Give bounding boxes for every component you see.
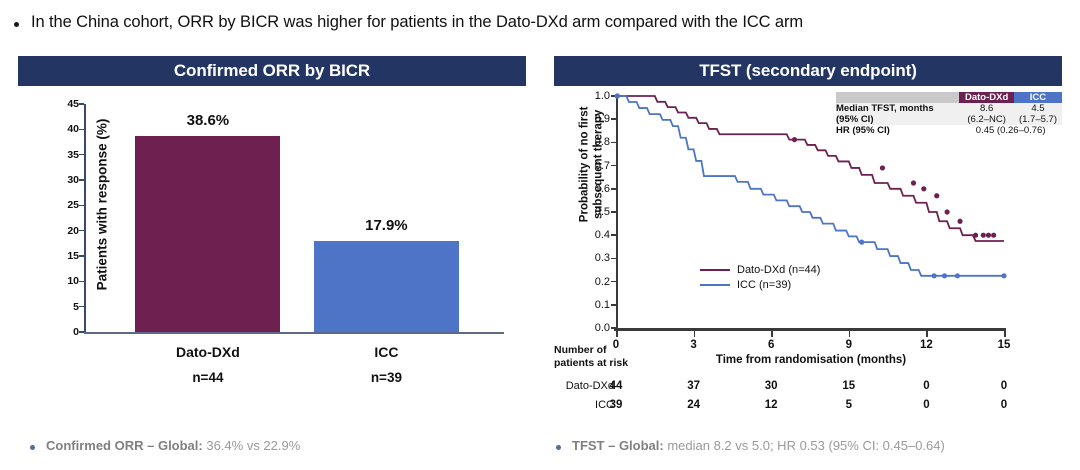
km-y-tick-label: 0.1 [595, 299, 610, 311]
stats-ci-dato: (6.2–NC) [959, 114, 1014, 125]
km-censor-marker [934, 193, 939, 198]
stats-median-dato: 8.6 [959, 103, 1014, 114]
bar-y-tick-label: 40 [67, 123, 79, 135]
km-censor-marker [880, 165, 885, 170]
km-legend-item: ICC (n=39) [700, 277, 820, 292]
km-y-tick-label: 1.0 [595, 90, 610, 102]
stats-median-icc: 4.5 [1014, 103, 1062, 114]
stats-label-median: Median TFST, months [836, 103, 959, 114]
bar-y-tick-label: 25 [67, 199, 79, 211]
km-y-tick-label: 0.4 [595, 229, 610, 241]
km-y-tick-label: 0.2 [595, 276, 610, 288]
footer-left-rest: 36.4% vs 22.9% [203, 438, 301, 453]
tfst-km-chart: Probability of no first subsequent thera… [554, 92, 1062, 422]
footer-left-bold: Confirmed ORR – Global: [46, 438, 203, 453]
orr-bar-chart: Patients with response (%) 0510152025303… [18, 92, 526, 412]
stats-row-hr: HR (95% CI) 0.45 (0.26–0.76) [836, 125, 1062, 136]
km-legend-label: ICC (n=39) [737, 279, 791, 291]
bar-x-axis-line [84, 332, 504, 334]
header-bullet-text: In the China cohort, ORR by BICR was hig… [31, 12, 803, 33]
risk-row-name: ICC [554, 399, 614, 411]
bar-y-tick-mark [79, 129, 84, 131]
km-censor-marker [615, 93, 620, 98]
km-censor-marker [955, 273, 960, 278]
km-x-tick-mark [694, 331, 696, 337]
risk-row-value: 30 [765, 380, 778, 392]
km-x-tick-mark [771, 331, 773, 337]
stats-hr-value: 0.45 (0.26–0.76) [959, 125, 1062, 136]
bar-y-tick-mark [79, 179, 84, 181]
stats-row-median-2: (95% CI) (6.2–NC) (1.7–5.7) [836, 114, 1062, 125]
km-x-tick-label: 12 [920, 339, 933, 351]
km-x-tick-mark [616, 331, 618, 337]
stats-ci-icc: (1.7–5.7) [1014, 114, 1062, 125]
km-censor-marker [981, 233, 986, 238]
risk-title-line1: Number of [554, 344, 628, 357]
risk-row-value: 44 [610, 380, 623, 392]
risk-row-value: 0 [1001, 399, 1007, 411]
stats-label-ci: (95% CI) [836, 114, 959, 125]
km-censor-marker [957, 219, 962, 224]
km-censor-marker [792, 137, 797, 142]
bar-plot-area: 051015202530354045 38.6%17.9% [84, 104, 504, 332]
km-x-tick-label: 15 [998, 339, 1011, 351]
risk-row-value: 5 [846, 399, 852, 411]
bar-y-tick-mark [79, 103, 84, 105]
km-y-tick-label: 0.0 [595, 322, 610, 334]
risk-row-value: 0 [923, 399, 929, 411]
bullet-dot-icon [14, 22, 19, 27]
risk-table-row: Dato-DXd4437301500 [554, 380, 1006, 399]
bar-y-tick-mark [79, 230, 84, 232]
bar-x-label: ICC [374, 344, 398, 360]
bar-y-tick-label: 35 [67, 149, 79, 161]
km-x-tick-mark [926, 331, 928, 337]
slide-root: In the China cohort, ORR by BICR was hig… [0, 0, 1080, 470]
risk-row-value: 12 [765, 399, 778, 411]
footer-bullet-dot-icon-2 [556, 445, 561, 450]
bar-y-tick-label: 20 [67, 225, 79, 237]
km-censor-marker [944, 209, 949, 214]
stats-header-row: Dato-DXd ICC [836, 92, 1062, 103]
km-y-tick-label: 0.5 [595, 206, 610, 218]
stats-label-hr: HR (95% CI) [836, 125, 959, 136]
bar-y-tick-label: 15 [67, 250, 79, 262]
km-y-tick-label: 0.6 [595, 183, 610, 195]
bar-icc [314, 241, 459, 332]
footer-right-text: TFST – Global: median 8.2 vs 5.0; HR 0.5… [572, 438, 945, 454]
km-x-axis-title: Time from randomisation (months) [616, 354, 1006, 366]
bar-y-tick-label: 10 [67, 275, 79, 287]
bar-x-sublabel: n=44 [192, 370, 223, 385]
risk-row-value: 39 [610, 399, 623, 411]
km-x-tick-label: 9 [846, 339, 852, 351]
bar-data-label: 38.6% [187, 112, 230, 129]
stats-header-icc: ICC [1014, 92, 1062, 103]
bar-y-tick-mark [79, 281, 84, 283]
stats-header-dato: Dato-DXd [959, 92, 1014, 103]
risk-table-title: Number of patients at risk [554, 344, 628, 370]
header-bullet: In the China cohort, ORR by BICR was hig… [14, 12, 1064, 33]
km-censor-marker [1001, 273, 1006, 278]
km-y-tick-label: 0.9 [595, 113, 610, 125]
km-x-tick-label: 6 [768, 339, 774, 351]
km-legend-item: Dato-DXd (n=44) [700, 262, 820, 277]
km-censor-marker [911, 180, 916, 185]
footer-left-text: Confirmed ORR – Global: 36.4% vs 22.9% [46, 438, 300, 454]
bar-y-tick-label: 45 [67, 98, 79, 110]
bar-data-label: 17.9% [365, 217, 408, 234]
bar-y-axis-line [84, 104, 86, 332]
km-censor-marker [991, 233, 996, 238]
bar-y-tick-mark [79, 331, 84, 333]
right-panel-title: TFST (secondary endpoint) [554, 56, 1062, 86]
tfst-stats-table: Dato-DXd ICC Median TFST, months 8.6 4.5… [836, 92, 1062, 136]
km-censor-marker [932, 273, 937, 278]
left-panel-title: Confirmed ORR by BICR [18, 56, 526, 86]
km-legend-swatch [700, 269, 730, 271]
bar-y-tick-mark [79, 255, 84, 257]
risk-row-value: 37 [687, 380, 700, 392]
bar-y-tick-mark [79, 154, 84, 156]
risk-row-value: 15 [842, 380, 855, 392]
km-x-tick-mark [1004, 331, 1006, 337]
footer-bullet-right: TFST – Global: median 8.2 vs 5.0; HR 0.5… [556, 438, 945, 454]
bar-y-tick-mark [79, 306, 84, 308]
bar-x-label: Dato-DXd [176, 344, 240, 360]
km-y-tick-label: 0.7 [595, 160, 610, 172]
risk-row-value: 0 [923, 380, 929, 392]
risk-row-value: 0 [1001, 380, 1007, 392]
footer-right-bold: TFST – Global: [572, 438, 664, 453]
km-censor-marker [986, 233, 991, 238]
stats-row-median-1: Median TFST, months 8.6 4.5 [836, 103, 1062, 114]
risk-row-name: Dato-DXd [554, 380, 614, 392]
risk-row-value: 24 [687, 399, 700, 411]
bar-dato-dxd [135, 136, 280, 332]
km-legend-swatch [700, 284, 730, 286]
km-x-axis-line [614, 328, 1006, 331]
footer-bullet-left: Confirmed ORR – Global: 36.4% vs 22.9% [30, 438, 300, 454]
risk-table-row: ICC392412500 [554, 399, 1006, 418]
km-censor-marker [859, 240, 864, 245]
footer-bullet-dot-icon [30, 445, 35, 450]
km-censor-marker [921, 186, 926, 191]
km-legend-label: Dato-DXd (n=44) [737, 264, 820, 276]
km-legend: Dato-DXd (n=44)ICC (n=39) [700, 262, 820, 292]
km-x-tick-label: 3 [690, 339, 696, 351]
km-x-tick-mark [849, 331, 851, 337]
bar-x-sublabel: n=39 [371, 370, 402, 385]
km-y-tick-label: 0.8 [595, 136, 610, 148]
risk-table-rows: Dato-DXd4437301500ICC392412500 [554, 380, 1006, 418]
risk-title-line2: patients at risk [554, 357, 628, 370]
bar-y-tick-mark [79, 205, 84, 207]
bar-y-tick-label: 30 [67, 174, 79, 186]
km-censor-marker [942, 273, 947, 278]
footer-right-rest: median 8.2 vs 5.0; HR 0.53 (95% CI: 0.45… [664, 438, 945, 453]
km-censor-marker [973, 233, 978, 238]
stats-header-blank [836, 92, 959, 103]
km-y-tick-label: 0.3 [595, 252, 610, 264]
